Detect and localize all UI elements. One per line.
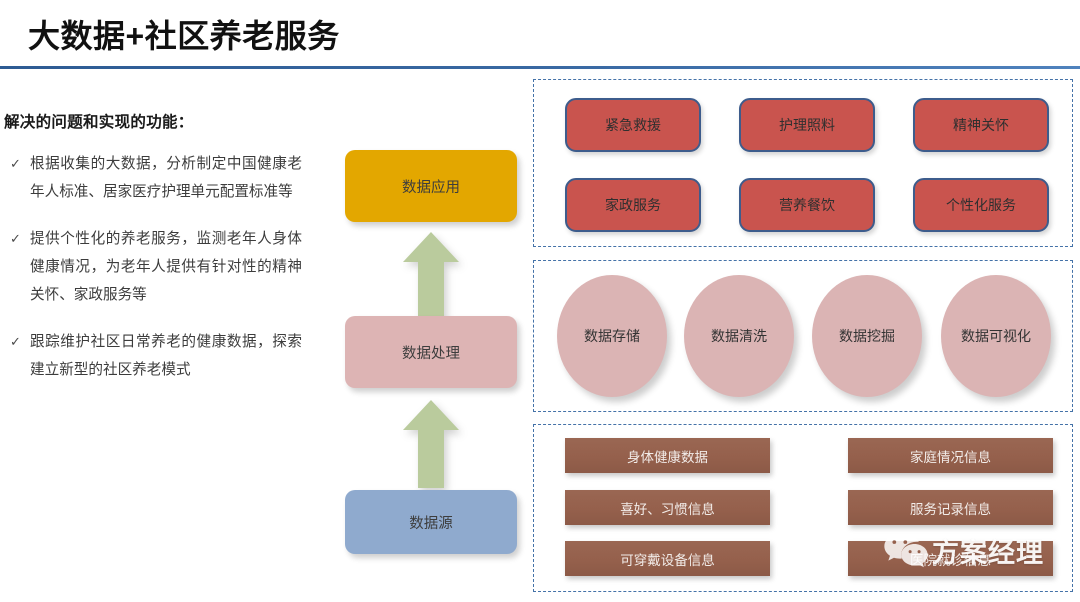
stage-node-data-cleaning[interactable]: 数据清洗 [684,275,794,397]
service-card-housekeeping[interactable]: 家政服务 [565,178,701,232]
bullet-text: 根据收集的大数据，分析制定中国健康老年人标准、居家医疗护理单元配置标准等 [30,150,302,206]
service-card-nutrition-catering[interactable]: 营养餐饮 [739,178,875,232]
left-panel-heading: 解决的问题和实现的功能： [4,110,329,132]
header-divider [0,66,1080,69]
up-arrow-icon [403,232,459,320]
check-icon: ✓ [4,225,30,309]
list-item: ✓ 提供个性化的养老服务，监测老年人身体健康情况，为老年人提供有针对性的精神关怀… [4,225,329,309]
flow-node-data-processing: 数据处理 [345,316,517,388]
flow-node-data-source: 数据源 [345,490,517,554]
source-card-wearable-device-info[interactable]: 可穿戴设备信息 [565,541,770,576]
page-title: 大数据+社区养老服务 [28,11,340,57]
bullet-text: 跟踪维护社区日常养老的健康数据，探索建立新型的社区养老模式 [30,328,302,384]
source-card-family-info[interactable]: 家庭情况信息 [848,438,1053,473]
bullet-text: 提供个性化的养老服务，监测老年人身体健康情况，为老年人提供有针对性的精神关怀、家… [30,225,302,309]
service-card-spiritual-care[interactable]: 精神关怀 [913,98,1049,152]
source-card-hospital-visit-info[interactable]: 医院就诊信息 [848,541,1053,576]
source-card-service-record-info[interactable]: 服务记录信息 [848,490,1053,525]
stage-label: 数据可视化 [959,326,1033,346]
service-card-nursing-care[interactable]: 护理照料 [739,98,875,152]
stage-label: 数据清洗 [702,326,776,346]
service-card-emergency-rescue[interactable]: 紧急救援 [565,98,701,152]
stage-label: 数据挖掘 [830,326,904,346]
stage-node-data-mining[interactable]: 数据挖掘 [812,275,922,397]
left-text-panel: 解决的问题和实现的功能： ✓ 根据收集的大数据，分析制定中国健康老年人标准、居家… [4,110,329,403]
service-card-personalized-service[interactable]: 个性化服务 [913,178,1049,232]
flow-node-data-application: 数据应用 [345,150,517,222]
up-arrow-icon [403,400,459,488]
check-icon: ✓ [4,328,30,384]
source-card-preference-habit-info[interactable]: 喜好、习惯信息 [565,490,770,525]
slide-canvas: 大数据+社区养老服务 解决的问题和实现的功能： ✓ 根据收集的大数据，分析制定中… [0,0,1080,602]
stage-node-data-storage[interactable]: 数据存储 [557,275,667,397]
check-icon: ✓ [4,150,30,206]
source-card-health-data[interactable]: 身体健康数据 [565,438,770,473]
stage-node-data-visualization[interactable]: 数据可视化 [941,275,1051,397]
list-item: ✓ 根据收集的大数据，分析制定中国健康老年人标准、居家医疗护理单元配置标准等 [4,150,329,206]
list-item: ✓ 跟踪维护社区日常养老的健康数据，探索建立新型的社区养老模式 [4,328,329,384]
stage-label: 数据存储 [575,326,649,346]
